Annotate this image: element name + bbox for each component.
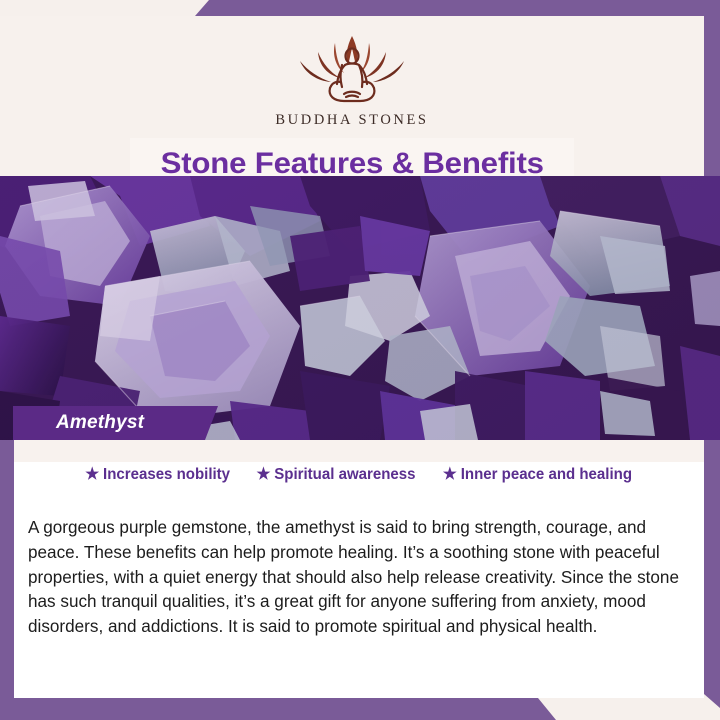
benefits-row: ★ Increases nobility ★ Spiritual awarene… — [14, 466, 704, 484]
amethyst-crystal-illustration — [0, 176, 720, 440]
stone-name-label: Amethyst — [56, 412, 144, 434]
header-section: BUDDHA STONES Stone Features & Benefits — [0, 16, 704, 176]
benefit-item-3: ★ Inner peace and healing — [443, 466, 632, 484]
benefit-label-3: Inner peace and healing — [461, 466, 632, 484]
benefit-item-2: ★ Spiritual awareness — [257, 466, 416, 484]
product-info-card: BUDDHA STONES Stone Features & Benefits — [0, 0, 720, 720]
stone-name-tag: Amethyst — [13, 406, 218, 440]
description-text: A gorgeous purple gemstone, the amethyst… — [28, 515, 680, 638]
benefit-label-1: Increases nobility — [103, 466, 230, 484]
star-icon: ★ — [443, 467, 457, 483]
brand-wordmark: BUDDHA STONES — [275, 112, 428, 129]
amethyst-photo — [0, 176, 720, 440]
star-icon: ★ — [85, 467, 99, 483]
description-section: ★ Increases nobility ★ Spiritual awarene… — [14, 440, 704, 698]
brand-logo: BUDDHA STONES — [0, 30, 704, 129]
benefit-label-2: Spiritual awareness — [274, 466, 415, 484]
bottom-accent-band — [0, 698, 556, 720]
top-accent-band — [195, 0, 720, 16]
star-icon: ★ — [257, 467, 271, 483]
benefit-item-1: ★ Increases nobility — [85, 466, 230, 484]
content-top-tint — [14, 440, 704, 462]
lotus-meditation-icon — [278, 30, 426, 108]
